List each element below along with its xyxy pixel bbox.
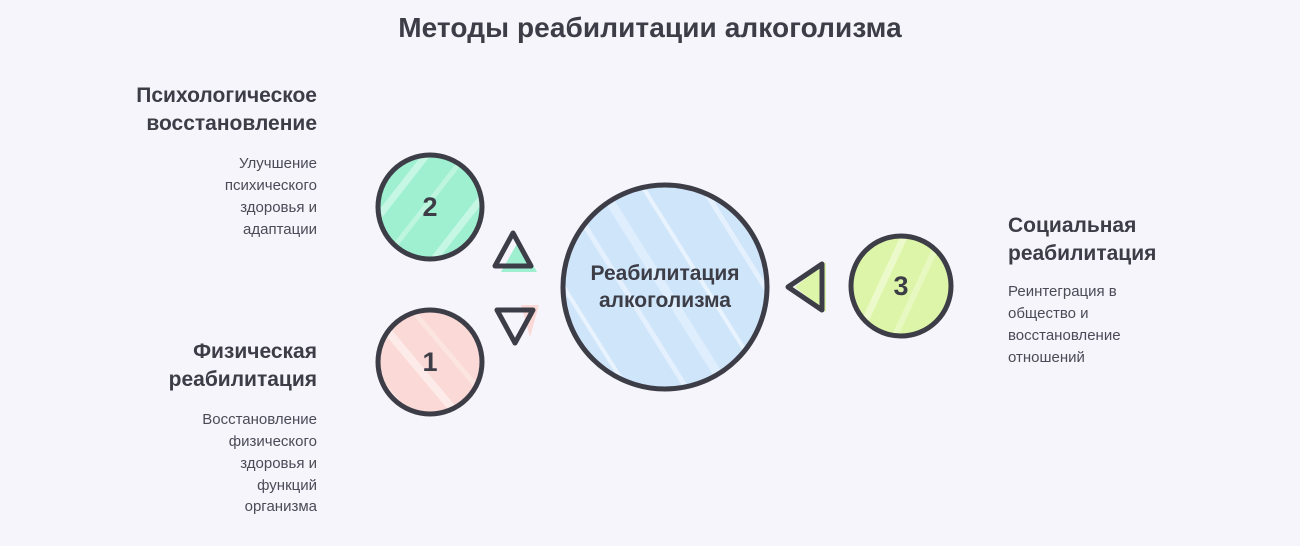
node-1-circle[interactable] (378, 310, 482, 414)
block-social-body: Реинтеграция в общество и восстановление… (1008, 281, 1258, 368)
block-physical-heading: Физическая реабилитация (37, 338, 317, 393)
block-physical-body: Восстановление физического здоровья и фу… (37, 409, 317, 518)
node-2-circle[interactable] (378, 155, 482, 259)
block-psychological: Психологическое восстановление Улучшение… (37, 82, 317, 240)
triangle-up-icon (495, 233, 537, 272)
node-3-circle[interactable] (851, 236, 951, 336)
block-physical: Физическая реабилитация Восстановление ф… (37, 338, 317, 518)
triangle-left-icon (788, 262, 826, 312)
block-psychological-body: Улучшение психического здоровья и адапта… (37, 153, 317, 240)
infographic-canvas: Методы реабилитации алкоголизма (0, 0, 1300, 546)
block-social: Социальная реабилитация Реинтеграция в о… (1008, 212, 1258, 368)
block-psychological-heading: Психологическое восстановление (37, 82, 317, 137)
block-social-heading: Социальная реабилитация (1008, 212, 1258, 267)
triangle-down-icon (497, 305, 539, 343)
central-node[interactable] (563, 185, 767, 389)
